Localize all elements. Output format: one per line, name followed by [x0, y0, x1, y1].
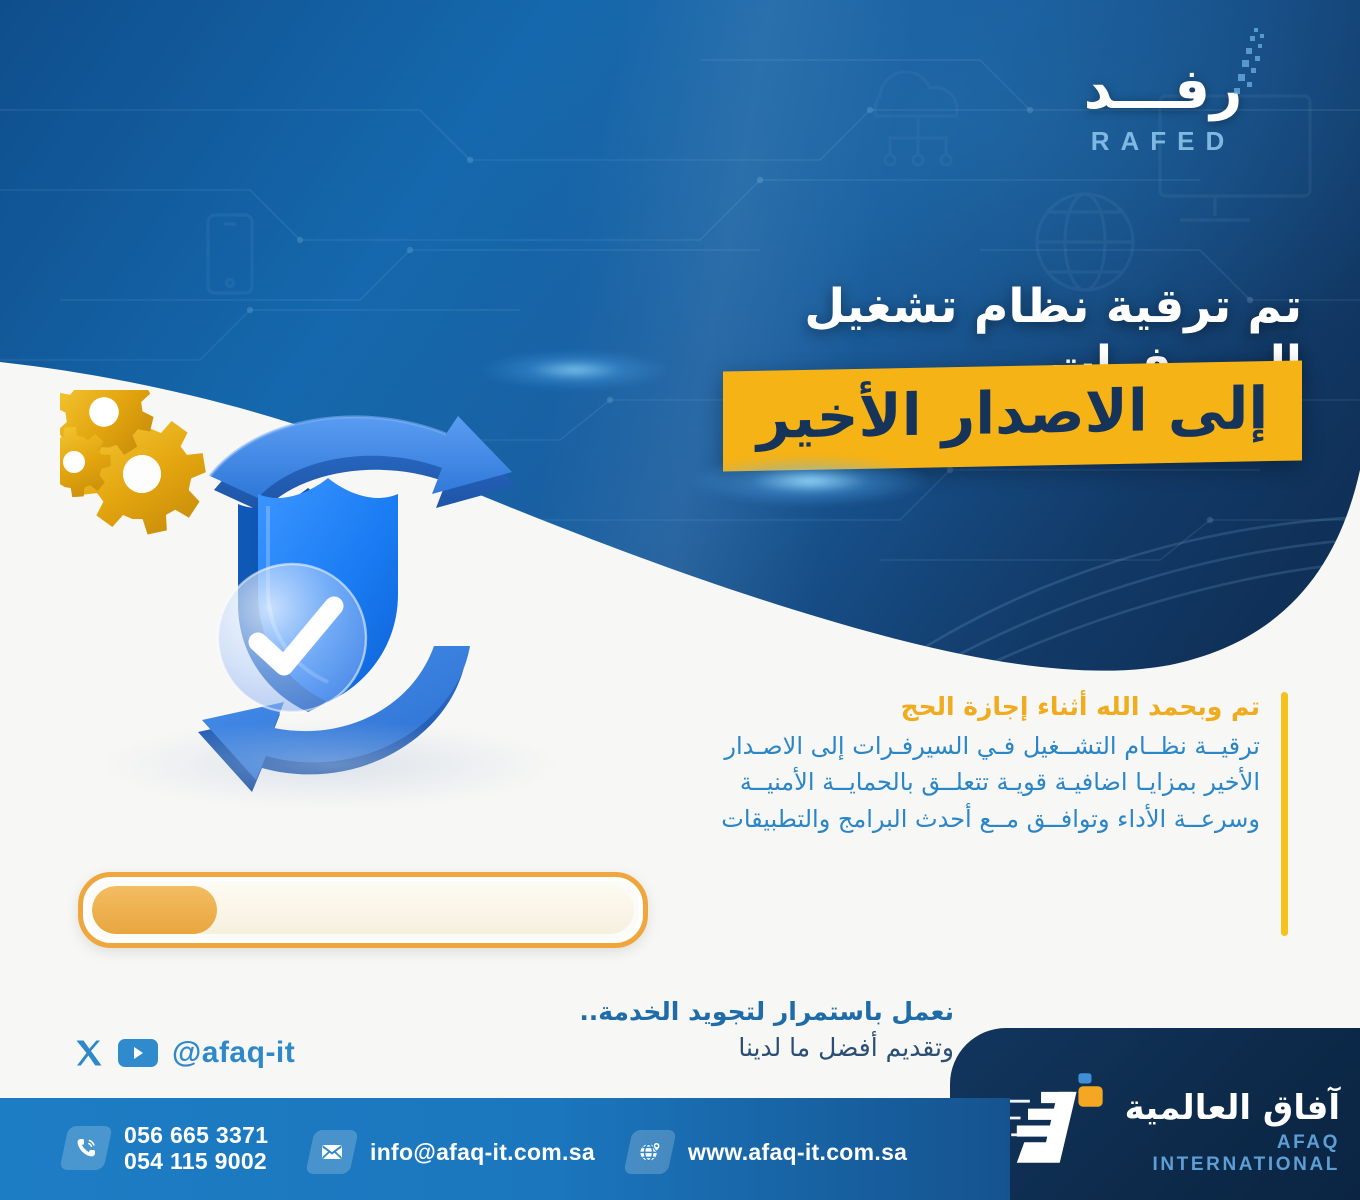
illustration-floor-shadow: [100, 720, 560, 810]
phone-numbers: 056 665 3371 054 115 9002: [124, 1122, 268, 1175]
closing-line-1: نعمل باستمرار لتجويد الخدمة..: [434, 996, 954, 1027]
envelope-icon: [305, 1130, 358, 1174]
poster-canvas: رفـــد RAFED تم ترقية نظام تشغيل السيرفر…: [0, 0, 1360, 1200]
cloud-network-outline-icon: [875, 72, 957, 165]
afaq-name-arabic: آفاق العالمية: [1090, 1088, 1340, 1128]
contact-website[interactable]: www.afaq-it.com.sa: [628, 1130, 907, 1174]
swoosh-arcs: [880, 430, 1360, 690]
security-shield-check-icon: [218, 478, 398, 712]
email-text: info@afaq-it.com.sa: [370, 1139, 595, 1165]
closing-line-2: وتقديم أفضل ما لدينا: [434, 1031, 954, 1065]
x-twitter-icon[interactable]: [74, 1038, 104, 1068]
progress-fill: [92, 886, 217, 934]
progress-track: [92, 886, 634, 934]
contact-bar: 056 665 3371 054 115 9002 info@afaq-it.c…: [0, 1098, 1010, 1200]
gears-icon: [60, 390, 215, 544]
rafed-logo-latin: RAFED: [1038, 126, 1288, 157]
social-row: @afaq-it: [74, 1036, 295, 1070]
smartphone-outline-icon: [208, 215, 252, 293]
headline-banner: إلى الاصدار الأخير: [723, 360, 1302, 471]
afaq-international-logo: آفاق العالمية AFAQ INTERNATIONAL: [1000, 1066, 1340, 1176]
social-handle[interactable]: @afaq-it: [172, 1036, 295, 1070]
phone-line-1: 056 665 3371: [124, 1122, 268, 1148]
contact-email[interactable]: info@afaq-it.com.sa: [310, 1130, 595, 1174]
afaq-name-latin: AFAQ INTERNATIONAL: [1090, 1132, 1340, 1176]
closing-text-block: نعمل باستمرار لتجويد الخدمة.. وتقديم أفض…: [434, 996, 954, 1065]
update-illustration: [60, 390, 620, 830]
phone-line-2: 054 115 9002: [124, 1148, 268, 1174]
body-heading: تم وبحمد الله أثناء إجازة الحج: [720, 692, 1260, 722]
contact-phone[interactable]: 056 665 3371 054 115 9002: [64, 1122, 268, 1175]
youtube-icon[interactable]: [118, 1039, 158, 1067]
globe-outline-icon: [1037, 194, 1133, 290]
rafed-pixel-dots-icon: [1224, 26, 1270, 106]
phone-icon: [59, 1126, 112, 1170]
body-text-block: تم وبحمد الله أثناء إجازة الحج ترقيــة ن…: [720, 692, 1260, 837]
globe-pin-icon: [623, 1130, 676, 1174]
update-progress-bar: [78, 872, 648, 948]
website-text: www.afaq-it.com.sa: [688, 1139, 907, 1165]
body-paragraph: ترقيــة نظــام التشــغيل فـي السيرفـرات …: [720, 728, 1260, 837]
body-accent-rule: [1281, 692, 1288, 936]
